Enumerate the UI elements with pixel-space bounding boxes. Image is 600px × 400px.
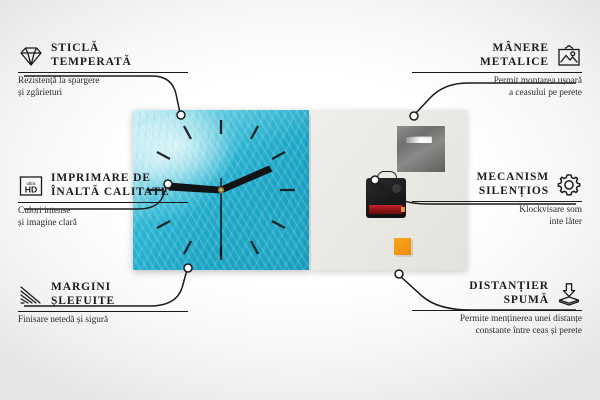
feature-print-sub-line1: Culori intense	[18, 206, 188, 218]
feature-mechanism: MECANISM SILENȚIOS Klockvisare som inte …	[412, 171, 582, 228]
feature-handles-sub-line1: Permit montarea ușoară	[412, 76, 582, 88]
setting-knob	[392, 184, 401, 193]
feature-spacer-title-line1: DISTANȚIER	[469, 280, 549, 294]
feature-spacer-head: DISTANȚIER SPUMĂ	[412, 280, 582, 307]
feature-glass-sub-line1: Rezistență la spargere	[18, 76, 188, 88]
svg-text:HD: HD	[25, 184, 37, 194]
feature-print-title: IMPRIMARE DE ÎNALTĂ CALITATE	[51, 172, 169, 199]
feature-glass-sub-line2: și zgârieturi	[18, 88, 188, 100]
feature-edges-head: MARGINI ȘLEFUITE	[18, 281, 188, 308]
feature-handles-title-line2: METALICE	[480, 56, 549, 70]
feature-spacer-title: DISTANȚIER SPUMĂ	[469, 280, 549, 307]
feature-glass-title: STICLĂ TEMPERATĂ	[51, 42, 132, 69]
feature-spacer-subtitle: Permite menținerea unei distanțe constan…	[412, 311, 582, 337]
feature-edges: MARGINI ȘLEFUITE Finisare netedă și sigu…	[18, 281, 188, 327]
feature-mechanism-sub-line2: inte låter	[412, 217, 582, 229]
feature-handles-subtitle: Permit montarea ușoară a ceasului pe per…	[412, 73, 582, 99]
feature-mechanism-title-line2: SILENȚIOS	[477, 185, 549, 199]
feature-mechanism-sub-line1: Klockvisare som	[412, 205, 582, 217]
hanger-loop	[377, 171, 397, 183]
feature-edges-title: MARGINI ȘLEFUITE	[51, 281, 115, 308]
feature-edges-sub-line1: Finisare netedă și sigură	[18, 315, 188, 327]
feature-mechanism-subtitle: Klockvisare som inte låter	[412, 202, 582, 228]
feature-edges-title-line1: MARGINI	[51, 281, 115, 295]
feature-spacer-title-line2: SPUMĂ	[469, 294, 549, 308]
feature-edges-title-line2: ȘLEFUITE	[51, 295, 115, 309]
feature-mechanism-title: MECANISM SILENȚIOS	[477, 171, 549, 198]
feature-handles: MÂNERE METALICE Permit montarea ușoară a…	[412, 42, 582, 99]
feature-spacer-sub-line2: constante între ceas și perete	[412, 326, 582, 338]
feature-print-sub-line2: și imagine clară	[18, 218, 188, 230]
feature-glass-subtitle: Rezistență la spargere și zgârieturi	[18, 73, 188, 99]
gear-icon	[556, 172, 582, 198]
feature-glass: STICLĂ TEMPERATĂ Rezistență la spargere …	[18, 42, 188, 99]
infographic-canvas: STICLĂ TEMPERATĂ Rezistență la spargere …	[0, 0, 600, 400]
feature-handles-title-line1: MÂNERE	[480, 42, 549, 56]
metal-hanger-plate	[397, 126, 445, 172]
polished-edge-icon	[18, 282, 44, 308]
hanger-slot	[406, 136, 432, 143]
feature-handles-sub-line2: a ceasului pe perete	[412, 88, 582, 100]
feature-print: ultra HD IMPRIMARE DE ÎNALTĂ CALITATE Cu…	[18, 172, 188, 229]
down-arrow-pad-icon	[556, 281, 582, 307]
feature-handles-head: MÂNERE METALICE	[412, 42, 582, 69]
feature-print-head: ultra HD IMPRIMARE DE ÎNALTĂ CALITATE	[18, 172, 188, 199]
diamond-icon	[18, 43, 44, 69]
feature-mechanism-head: MECANISM SILENȚIOS	[412, 171, 582, 198]
foam-spacer	[394, 238, 411, 255]
feature-handles-title: MÂNERE METALICE	[480, 42, 549, 69]
feature-mechanism-title-line1: MECANISM	[477, 171, 549, 185]
ultra-hd-icon: ultra HD	[18, 173, 44, 199]
feature-glass-title-line1: STICLĂ	[51, 42, 132, 56]
feature-glass-title-line2: TEMPERATĂ	[51, 56, 132, 70]
battery	[369, 205, 403, 214]
feature-glass-head: STICLĂ TEMPERATĂ	[18, 42, 188, 69]
picture-hanger-icon	[556, 43, 582, 69]
clock-movement	[366, 178, 406, 218]
feature-print-title-line2: ÎNALTĂ CALITATE	[51, 186, 169, 200]
feature-print-title-line1: IMPRIMARE DE	[51, 172, 169, 186]
feature-spacer: DISTANȚIER SPUMĂ Permite menținerea unei…	[412, 280, 582, 337]
feature-edges-subtitle: Finisare netedă și sigură	[18, 312, 188, 327]
feature-print-subtitle: Culori intense și imagine clară	[18, 203, 188, 229]
feature-spacer-sub-line1: Permite menținerea unei distanțe	[412, 314, 582, 326]
